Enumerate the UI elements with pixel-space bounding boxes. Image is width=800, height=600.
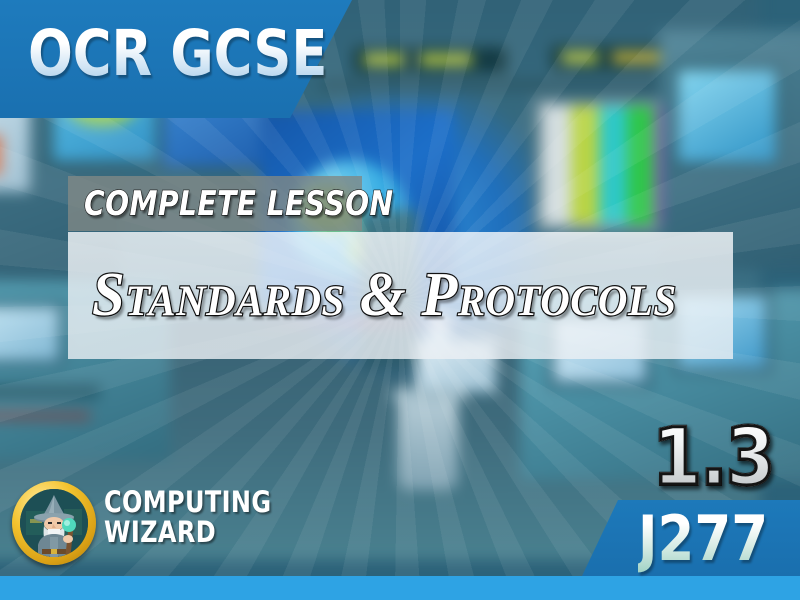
bottom-accent-strip	[0, 576, 800, 600]
spec-code-label: J277	[638, 504, 768, 574]
brand-name-line1: COMPUTING	[104, 487, 271, 517]
unit-number: 1.3	[653, 418, 774, 498]
lesson-type-label: COMPLETE LESSON	[84, 184, 394, 224]
wizard-badge-inner	[20, 489, 88, 557]
exam-board-label: OCR GCSE	[28, 22, 327, 85]
wizard-icon	[20, 489, 88, 557]
brand-name-line2: WIZARD	[104, 517, 271, 547]
lesson-title-slide: OCR GCSE COMPLETE LESSON Standards & Pro…	[0, 0, 800, 600]
page-title: Standards & Protocols	[92, 252, 700, 338]
brand-name: COMPUTING WIZARD	[104, 487, 271, 547]
wizard-badge-icon	[12, 481, 96, 565]
